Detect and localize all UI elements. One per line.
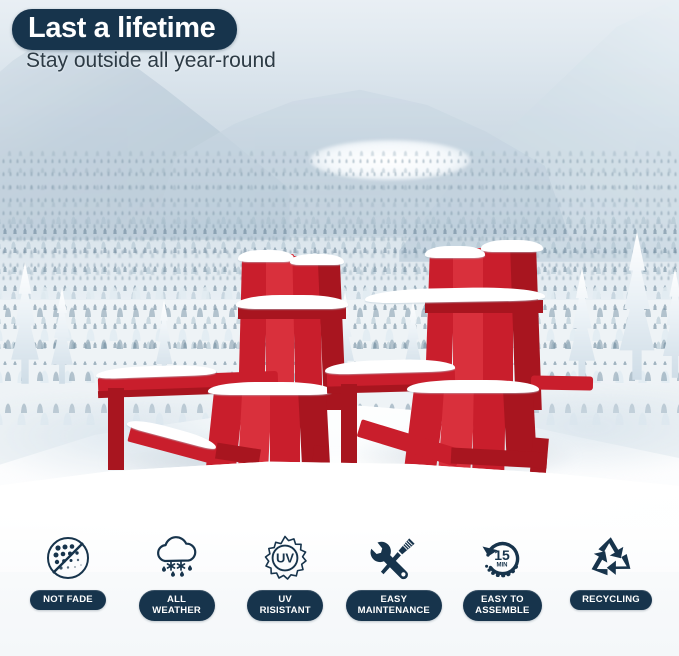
feature-easy-to-assemble: 15 MIN EASY TO ASSEMBLE [448, 532, 556, 621]
snow-on-backrest [481, 240, 543, 252]
feature-label-recycling: RECYCLING [570, 590, 652, 610]
feature-uv-resistant: UV UV RISISTANT [231, 532, 339, 621]
label-line: ALL [151, 594, 203, 605]
armrest [531, 375, 593, 390]
headline-text: Last a lifetime [28, 12, 215, 44]
cloud-snow-rain-icon [152, 532, 202, 584]
timer-icon-value: 15 [495, 547, 511, 563]
feature-label-not-fade: NOT FADE [30, 590, 106, 610]
subheadline-text: Stay outside all year-round [26, 50, 276, 71]
chair-leg [108, 388, 124, 470]
label-line: NOT FADE [42, 594, 94, 605]
feature-label-easy-maintenance: EASY MAINTENANCE [346, 590, 442, 621]
label-line: ASSEMBLE [475, 605, 529, 616]
label-line: UV [259, 594, 311, 605]
feature-label-all-weather: ALL WEATHER [139, 590, 215, 621]
label-line: RECYCLING [582, 594, 640, 605]
feature-recycling: RECYCLING [557, 532, 665, 610]
uv-icon-text: UV [276, 551, 294, 566]
label-line: MAINTENANCE [358, 605, 430, 616]
feature-label-uv-resistant: UV RISISTANT [247, 590, 323, 621]
recycle-arrows-icon [586, 532, 636, 584]
feature-label-easy-to-assemble: EASY TO ASSEMBLE [463, 590, 541, 621]
seat-slat [270, 392, 300, 470]
product-lifestyle-image: Last a lifetime Stay outside all year-ro… [0, 0, 679, 656]
feature-all-weather: ALL WEATHER [123, 532, 231, 621]
adirondack-chair-left [90, 250, 340, 485]
headline-pill: Last a lifetime [12, 9, 237, 50]
feature-not-fade: NOT FADE [14, 532, 122, 610]
label-line: EASY [358, 594, 430, 605]
label-line: EASY TO [475, 594, 529, 605]
snow-on-seat [208, 382, 332, 395]
timer-15-min-icon: 15 MIN [478, 532, 526, 584]
snow-on-seat [407, 380, 539, 393]
fade-dots-slash-icon [44, 532, 92, 584]
feature-easy-maintenance: EASY MAINTENANCE [340, 532, 448, 621]
wrench-screwdriver-icon [369, 532, 419, 584]
snow-on-rail [236, 295, 348, 309]
feature-icon-strip: NOT FADE [0, 524, 679, 656]
uv-sunburst-badge-icon: UV [261, 532, 309, 584]
chair-leg [341, 384, 357, 470]
label-line: WEATHER [151, 605, 203, 616]
snow-on-backrest [425, 246, 485, 258]
snow-on-backrest [238, 250, 294, 262]
timer-icon-unit: MIN [497, 563, 508, 569]
label-line: RISISTANT [259, 605, 311, 616]
adirondack-chair-right [335, 238, 585, 480]
